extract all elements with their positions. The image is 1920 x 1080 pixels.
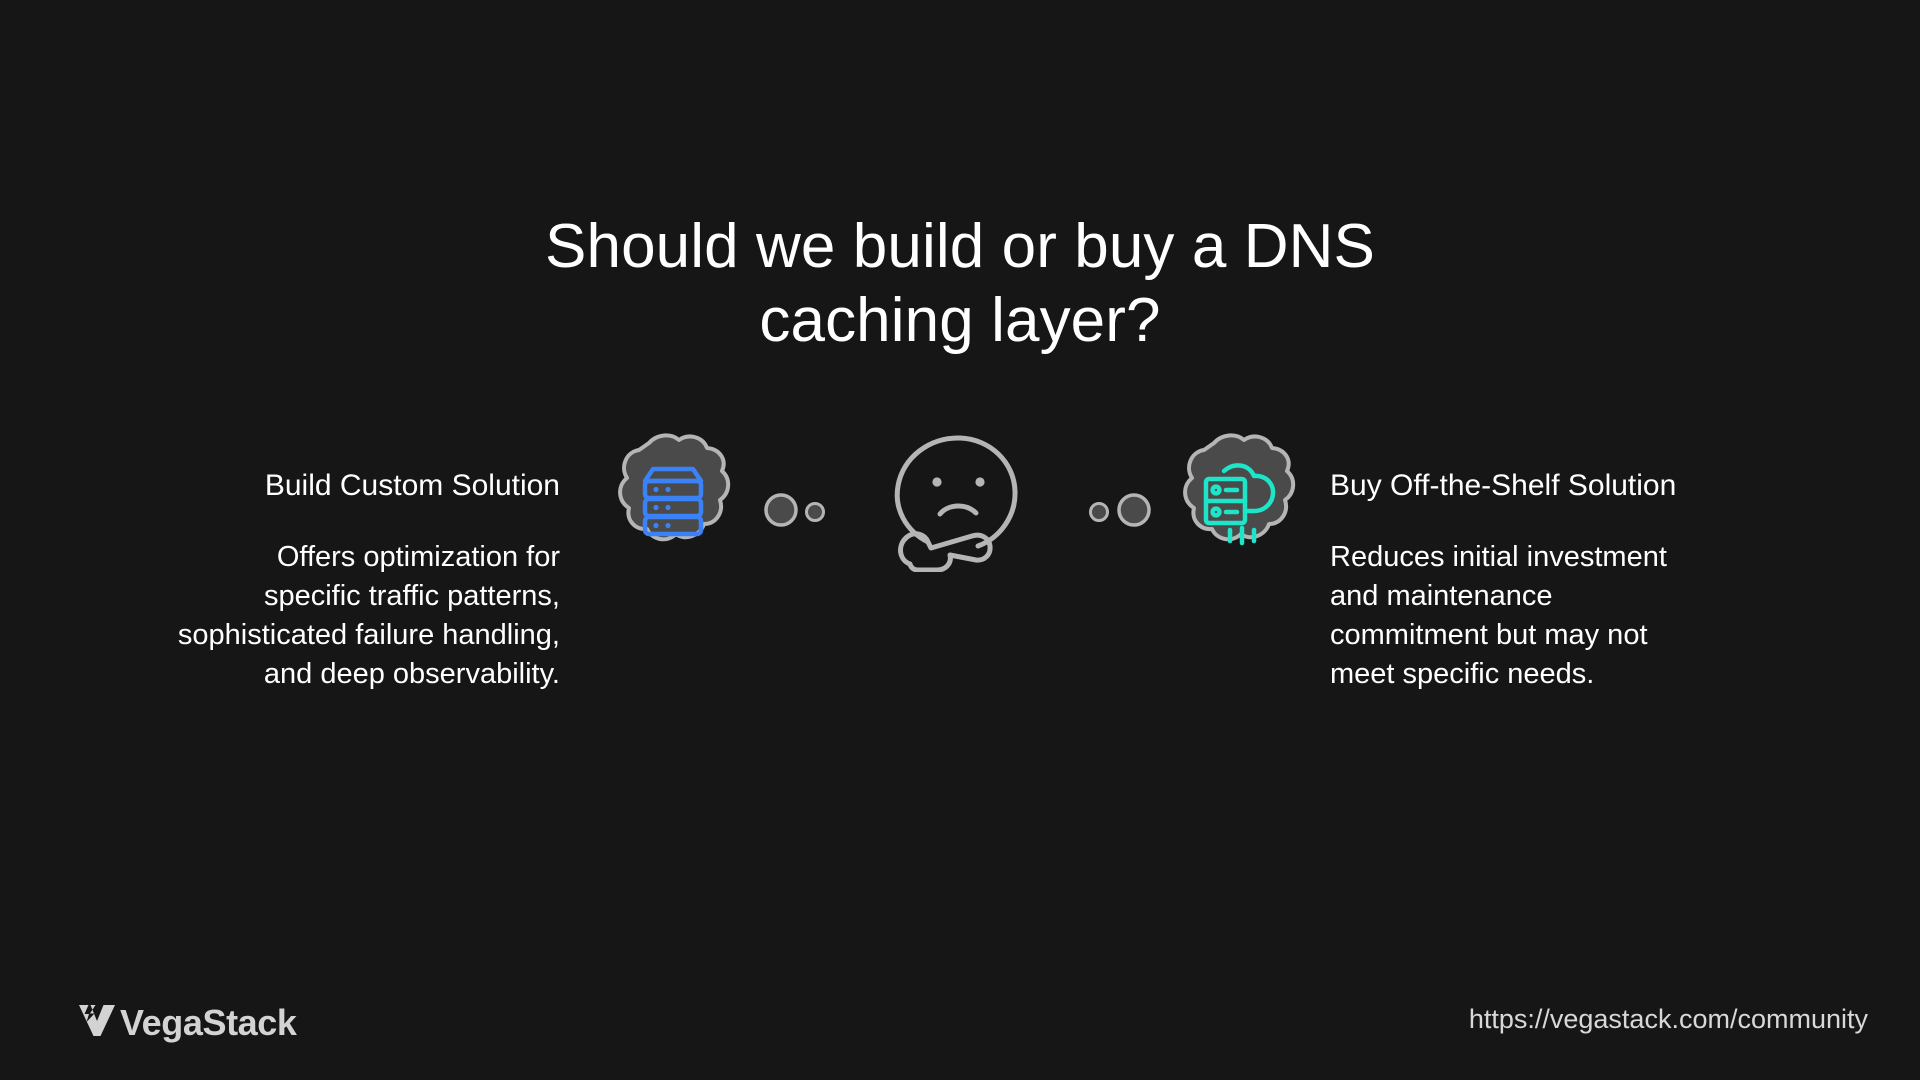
- left-option-body: Offers optimization for specific traffic…: [90, 504, 560, 694]
- footer-url[interactable]: https://vegastack.com/community: [1469, 1004, 1868, 1034]
- left-thought-dots: [762, 490, 832, 535]
- right-option-body: Reduces initial investment and maintenan…: [1330, 504, 1800, 694]
- thought-dot-small: [807, 504, 824, 521]
- thought-cloud-shape: [620, 435, 728, 539]
- left-option-column: Build Custom Solution Offers optimizatio…: [90, 440, 560, 694]
- thought-dot-small: [1091, 504, 1108, 521]
- left-option-heading: Build Custom Solution: [90, 440, 560, 504]
- vegastack-v-bolt-icon: [78, 1003, 116, 1042]
- slide-canvas: Should we build or buy a DNS caching lay…: [0, 0, 1920, 1080]
- thinking-face-icon: [897, 438, 1015, 570]
- thought-dot-large: [766, 495, 796, 525]
- left-thought-bubble: [613, 431, 733, 556]
- right-option-heading: Buy Off-the-Shelf Solution: [1330, 440, 1800, 504]
- thinking-face: [888, 424, 1033, 577]
- comparison-band: Build Custom Solution Offers optimizatio…: [0, 440, 1920, 670]
- right-thought-dots: [1085, 490, 1155, 535]
- right-thought-bubble: [1178, 431, 1298, 556]
- page-title: Should we build or buy a DNS caching lay…: [0, 210, 1920, 358]
- brand-logo-text: VegaStack: [120, 1005, 297, 1041]
- brand-logo: VegaStack: [78, 1003, 297, 1042]
- right-option-column: Buy Off-the-Shelf Solution Reduces initi…: [1330, 440, 1800, 694]
- thought-dot-large: [1119, 495, 1149, 525]
